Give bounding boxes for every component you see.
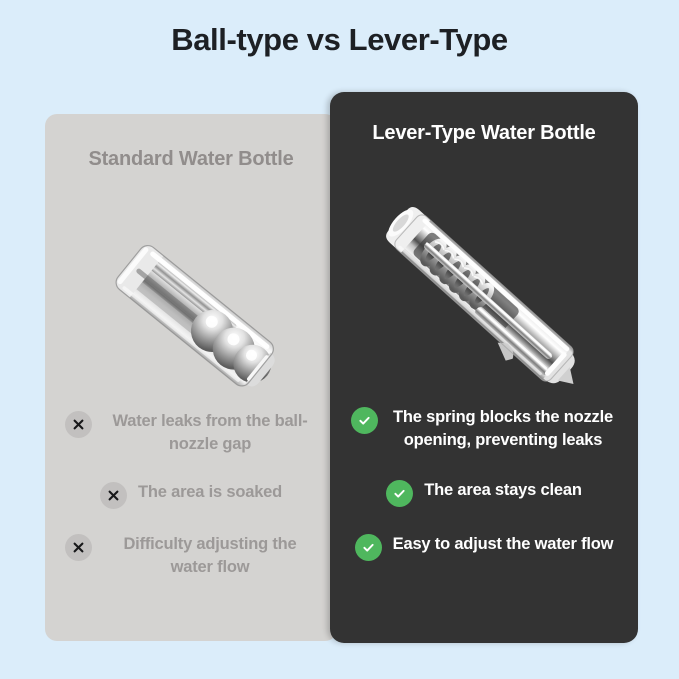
list-item-label: Easy to adjust the water flow [393, 533, 614, 556]
panel-standard-heading: Standard Water Bottle [63, 146, 319, 173]
list-item-label: Water leaks from the ball-nozzle gap [103, 410, 318, 457]
list-item-label: The area stays clean [424, 479, 581, 502]
panel-lever-water-bottle: Lever-Type Water Bottle [330, 92, 638, 643]
list-item-label: The spring blocks the nozzle opening, pr… [389, 406, 617, 453]
standard-feature-list: Water leaks from the ball-nozzle gap The… [55, 410, 327, 604]
panel-lever-heading: Lever-Type Water Bottle [348, 120, 620, 147]
lever-type-nozzle-image [346, 188, 622, 408]
list-item: The area is soaked [55, 481, 327, 509]
page-title: Ball-type vs Lever-Type [0, 22, 679, 58]
cross-icon [65, 534, 92, 561]
list-item-label: Difficulty adjusting the water flow [103, 533, 318, 580]
check-icon [355, 534, 382, 561]
list-item: Difficulty adjusting the water flow [55, 533, 327, 580]
list-item: Water leaks from the ball-nozzle gap [55, 410, 327, 457]
lever-feature-list: The spring blocks the nozzle opening, pr… [340, 406, 628, 587]
list-item: Easy to adjust the water flow [340, 533, 628, 561]
check-icon [386, 480, 413, 507]
cross-icon [65, 411, 92, 438]
ball-type-nozzle-image [63, 214, 319, 414]
list-item: The area stays clean [340, 479, 628, 507]
list-item: The spring blocks the nozzle opening, pr… [340, 406, 628, 453]
check-icon [351, 407, 378, 434]
comparison-infographic: Ball-type vs Lever-Type Standard Water B… [0, 0, 679, 679]
panel-standard-water-bottle: Standard Water Bottle [45, 114, 337, 641]
list-item-label: The area is soaked [138, 481, 282, 504]
cross-icon [100, 482, 127, 509]
